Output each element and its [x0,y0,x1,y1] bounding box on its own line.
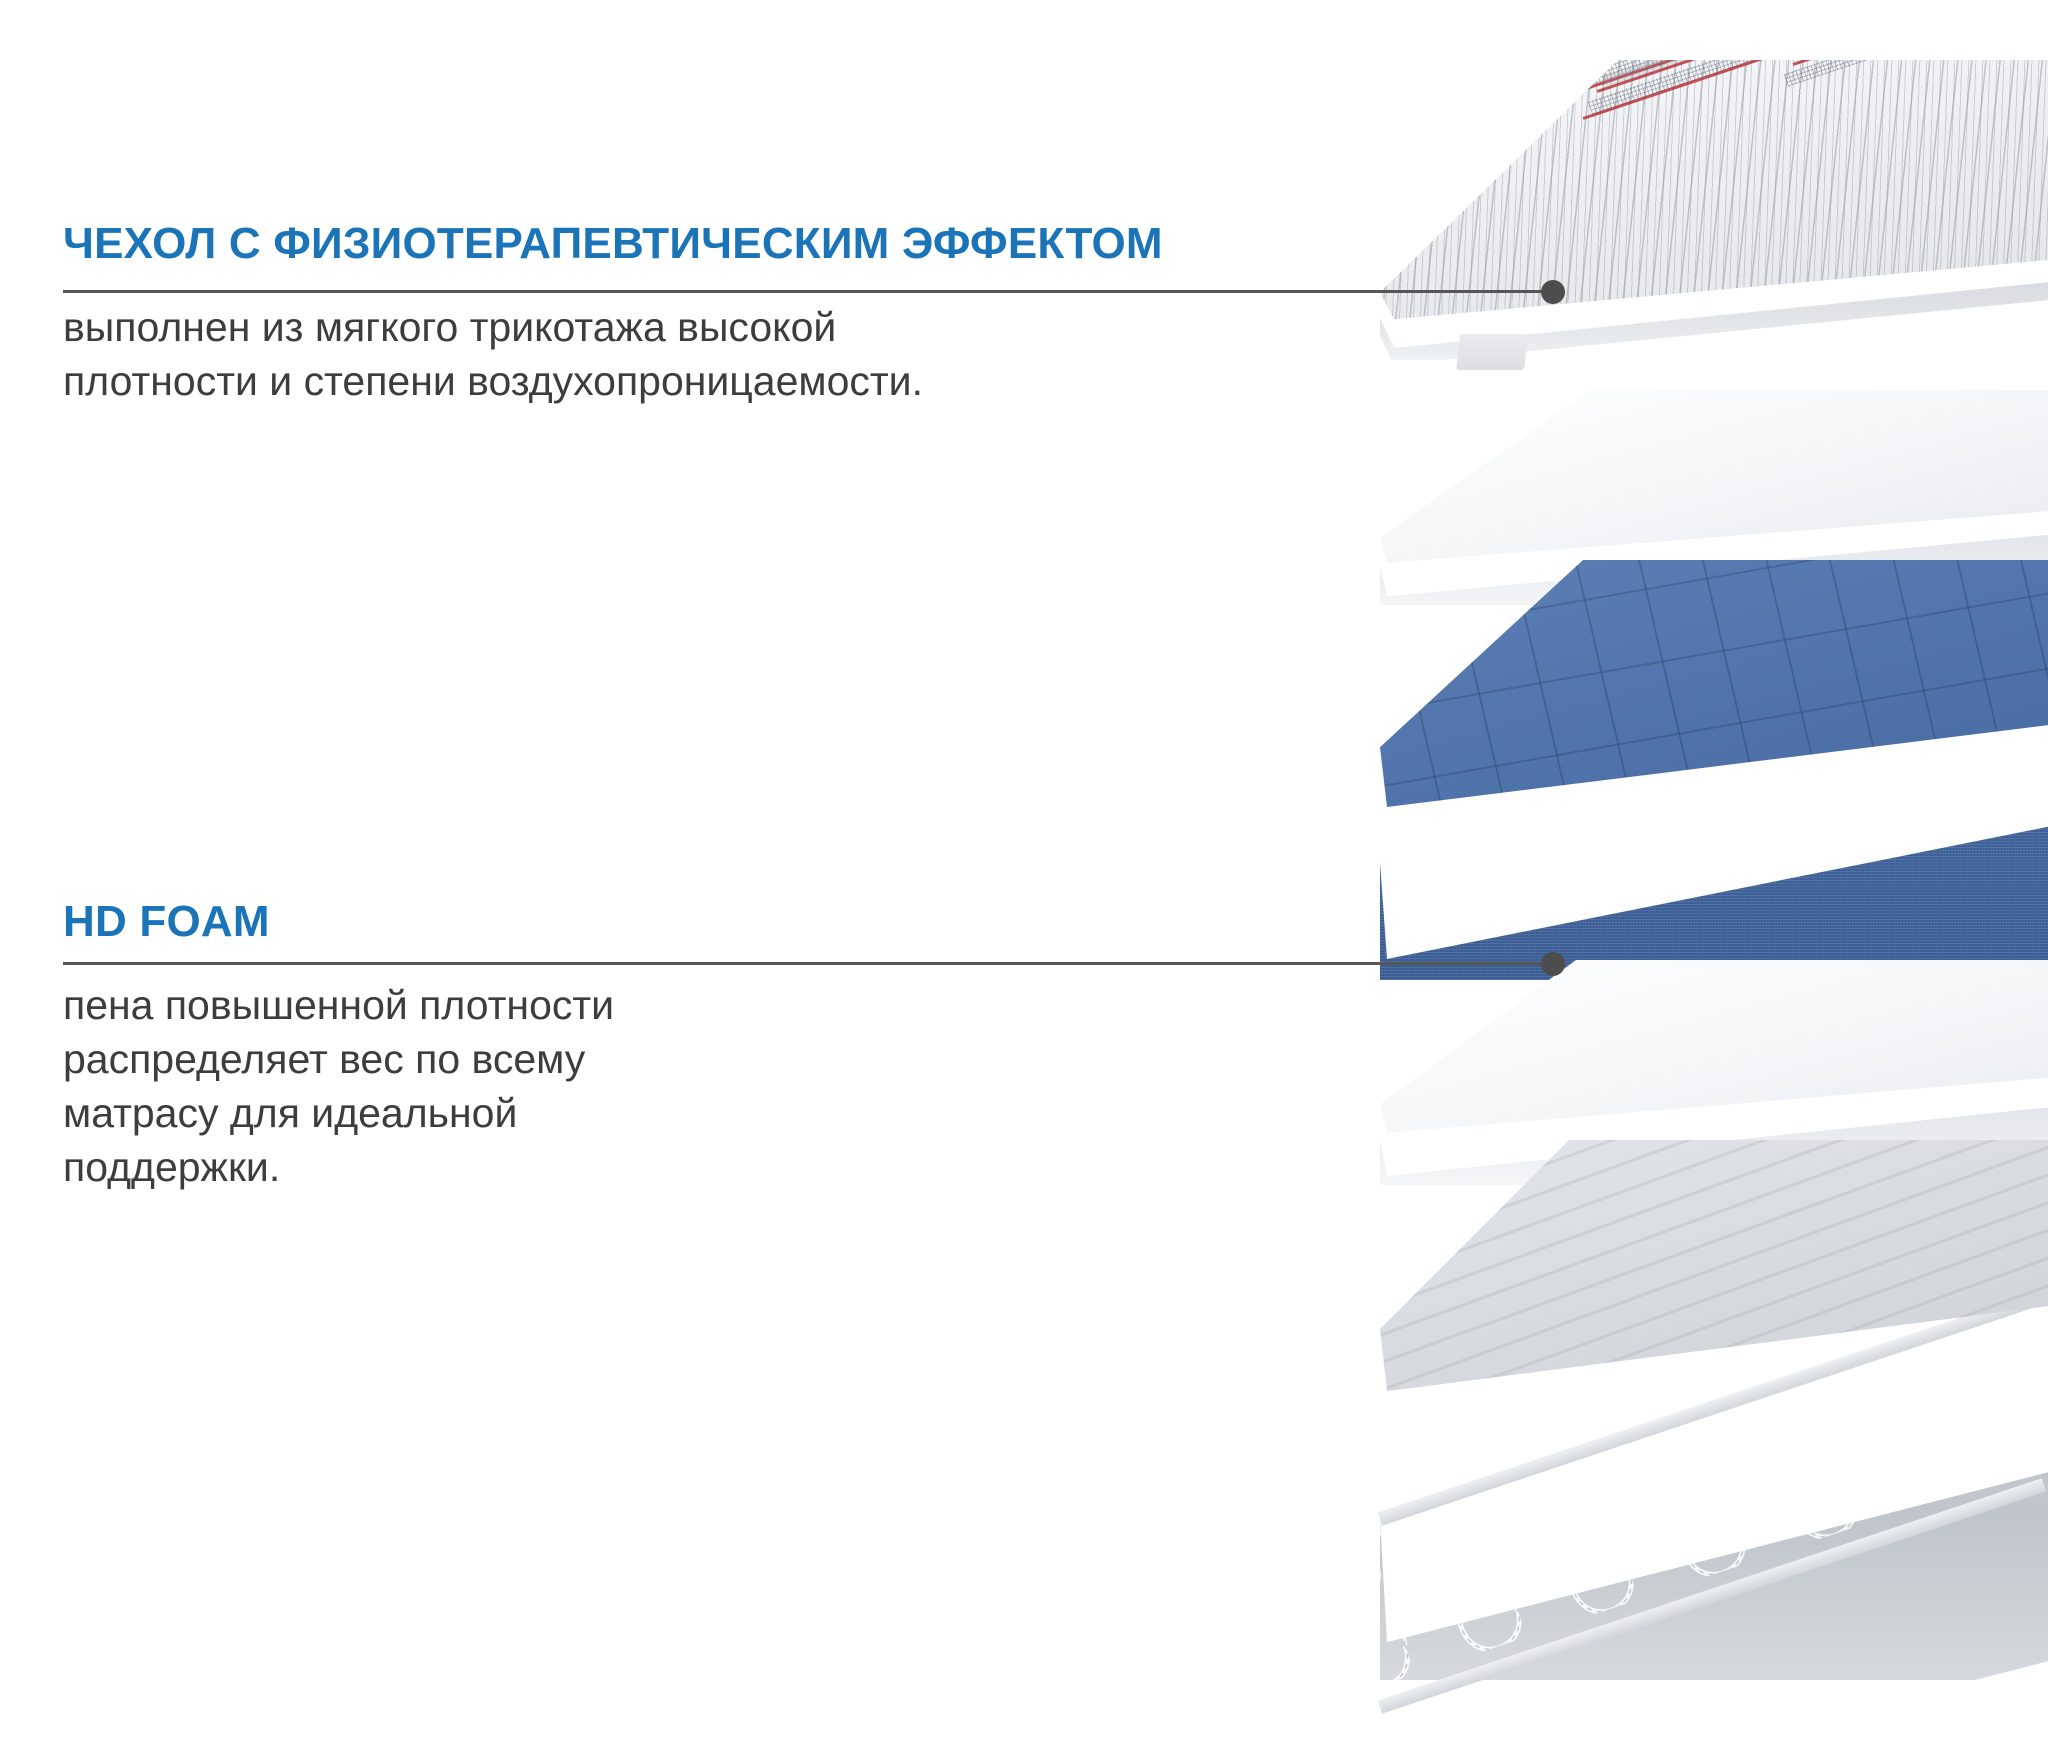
callout-rule-foam [63,962,1116,965]
callout-body-foam: пена повышенной плотности распределяет в… [63,978,883,1194]
callout-hd-foam: HD FOAM [63,900,1563,944]
leader-line-foam [1116,962,1553,965]
white-foam-top-surface [1380,390,2048,570]
leader-dot-cover [1541,280,1565,304]
leader-line-cover [1116,290,1553,293]
callout-body-cover: выполнен из мягкого трикотажа высокой пл… [63,300,1263,408]
callout-rule-cover [63,290,1116,293]
infographic-canvas: ЧЕХОЛ С ФИЗИОТЕРАПЕВТИЧЕСКИМ ЭФФЕКТОМ вы… [0,0,2048,1757]
hd-foam-top-surface [1380,560,2048,820]
mattress-exploded-illustration [1380,60,2048,1700]
knit-cover-label-tab [1456,334,1528,370]
layer-spring-base [1380,1140,2048,1700]
callout-knit-cover: ЧЕХОЛ С ФИЗИОТЕРАПЕВТИЧЕСКИМ ЭФФЕКТОМ [63,222,1563,266]
leader-dot-foam [1541,952,1565,976]
layer-hd-foam-core [1380,560,2048,1020]
spring-base-top-surface [1380,1140,2048,1410]
callout-heading-cover: ЧЕХОЛ С ФИЗИОТЕРАПЕВТИЧЕСКИМ ЭФФЕКТОМ [63,222,1563,266]
callout-heading-foam: HD FOAM [63,900,1563,944]
white-foam-bottom-surface [1380,960,2048,1140]
